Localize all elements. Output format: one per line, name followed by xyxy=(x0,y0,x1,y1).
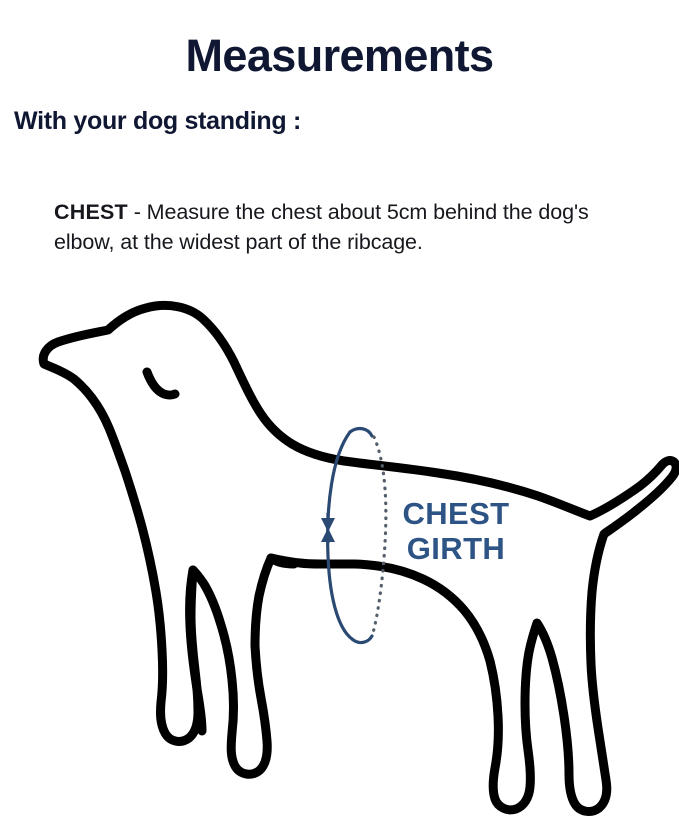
dog-body-outline xyxy=(43,305,676,811)
chest-girth-label: CHEST GIRTH xyxy=(381,496,531,566)
dog-measurement-illustration xyxy=(18,296,679,827)
measurements-page: Measurements With your dog standing : CH… xyxy=(0,0,679,827)
chest-description-body: - Measure the chest about 5cm behind the… xyxy=(54,200,589,254)
chest-girth-label-line-1: CHEST xyxy=(381,496,531,531)
girth-arrowhead-up xyxy=(321,528,335,542)
page-title: Measurements xyxy=(0,30,679,82)
chest-girth-label-line-2: GIRTH xyxy=(381,531,531,566)
section-subtitle: With your dog standing : xyxy=(14,105,301,137)
chest-description-lead: CHEST xyxy=(54,200,128,224)
dog-outline-svg xyxy=(18,296,679,827)
chest-description: CHEST - Measure the chest about 5cm behi… xyxy=(54,197,654,257)
